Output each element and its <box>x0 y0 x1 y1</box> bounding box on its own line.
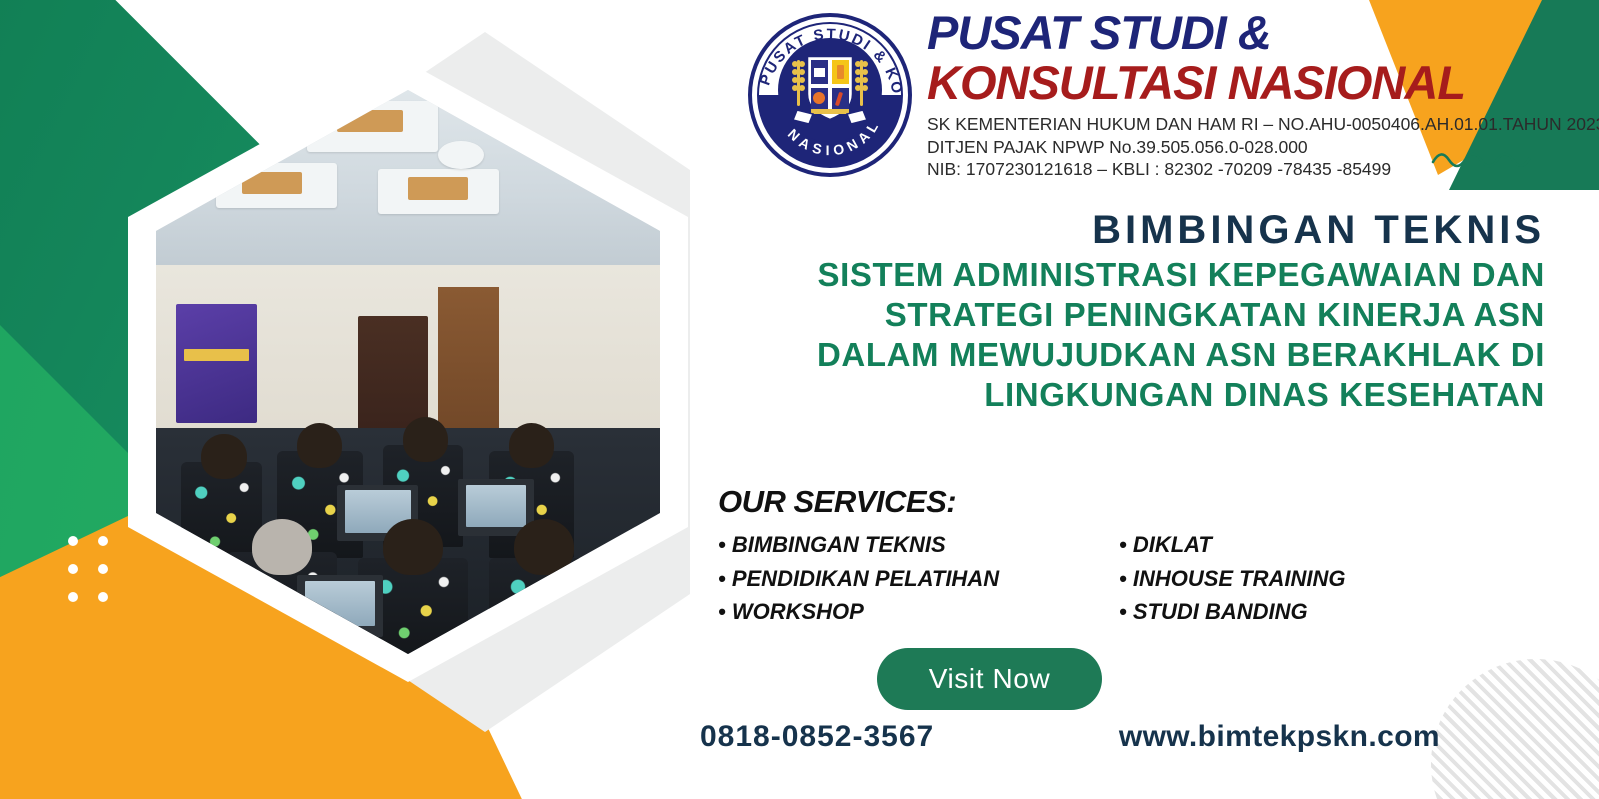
dot <box>98 592 108 602</box>
service-item: PENDIDIKAN PELATIHAN <box>718 562 1017 596</box>
event-subtitle-line: LINGKUNGAN DINAS KESEHATAN <box>700 375 1545 415</box>
dot <box>68 564 78 574</box>
photo-event-banner <box>176 304 257 422</box>
contact-bar: 0818-0852-3567 www.bimtekpskn.com <box>700 720 1440 754</box>
contact-phone[interactable]: 0818-0852-3567 <box>700 720 934 754</box>
contact-website[interactable]: www.bimtekpskn.com <box>1119 720 1440 754</box>
photo-ceiling-speaker <box>438 141 483 169</box>
legal-line-sk: SK KEMENTERIAN HUKUM DAN HAM RI – NO.AHU… <box>927 113 1587 136</box>
service-item: STUDI BANDING <box>1119 595 1418 629</box>
service-item: DIKLAT <box>1119 528 1418 562</box>
service-item: BIMBINGAN TEKNIS <box>718 528 1017 562</box>
organization-logo-icon: PUSAT STUDI & KONSULTASI NASIONAL <box>745 10 915 180</box>
photo-participant-head <box>403 417 448 462</box>
organization-name-block: PUSAT STUDI & KONSULTASI NASIONAL SK KEM… <box>927 8 1587 181</box>
organization-header: PUSAT STUDI & KONSULTASI NASIONAL <box>745 6 1590 186</box>
dot-grid-decoration <box>68 536 108 602</box>
legal-line-nib: NIB: 1707230121618 – KBLI : 82302 -70209… <box>927 158 1587 181</box>
visit-now-button[interactable]: Visit Now <box>877 648 1102 710</box>
dot <box>98 564 108 574</box>
dot <box>98 536 108 546</box>
event-title: BIMBINGAN TEKNIS <box>700 208 1545 253</box>
photo-participant-head <box>383 519 443 575</box>
event-subtitle: SISTEM ADMINISTRASI KEPEGAWAIAN DAN STRA… <box>700 255 1545 415</box>
org-name-line1: PUSAT STUDI & <box>927 8 1587 57</box>
legal-registration-block: SK KEMENTERIAN HUKUM DAN HAM RI – NO.AHU… <box>927 113 1587 181</box>
dot <box>68 536 78 546</box>
services-column-right: DIKLAT INHOUSE TRAINING STUDI BANDING <box>1017 528 1418 629</box>
photo-participant-head <box>509 423 554 468</box>
photo-participant-head <box>297 423 342 468</box>
services-column-left: BIMBINGAN TEKNIS PENDIDIKAN PELATIHAN WO… <box>718 528 1017 629</box>
photo-laptop-screen <box>466 485 526 527</box>
event-subtitle-line: DALAM MEWUJUDKAN ASN BERAKHLAK DI <box>700 335 1545 375</box>
photo-participant-head-gray <box>252 519 312 575</box>
org-name-line2: KONSULTASI NASIONAL <box>927 57 1587 109</box>
photo-participant-head <box>201 434 246 479</box>
service-item: WORKSHOP <box>718 595 1017 629</box>
dot <box>68 592 78 602</box>
promotional-banner: PUSAT STUDI & KONSULTASI NASIONAL <box>0 0 1599 799</box>
services-columns: BIMBINGAN TEKNIS PENDIDIKAN PELATIHAN WO… <box>718 528 1418 629</box>
event-subtitle-line: SISTEM ADMINISTRASI KEPEGAWAIAN DAN <box>700 255 1545 295</box>
photo-ceiling-light <box>408 177 468 200</box>
legal-line-npwp: DITJEN PAJAK NPWP No.39.505.056.0-028.00… <box>927 136 1587 159</box>
services-section: OUR SERVICES: BIMBINGAN TEKNIS PENDIDIKA… <box>718 484 1418 629</box>
services-heading: OUR SERVICES: <box>718 484 1418 520</box>
service-item: INHOUSE TRAINING <box>1119 562 1418 596</box>
event-subtitle-line: STRATEGI PENINGKATAN KINERJA ASN <box>700 295 1545 335</box>
